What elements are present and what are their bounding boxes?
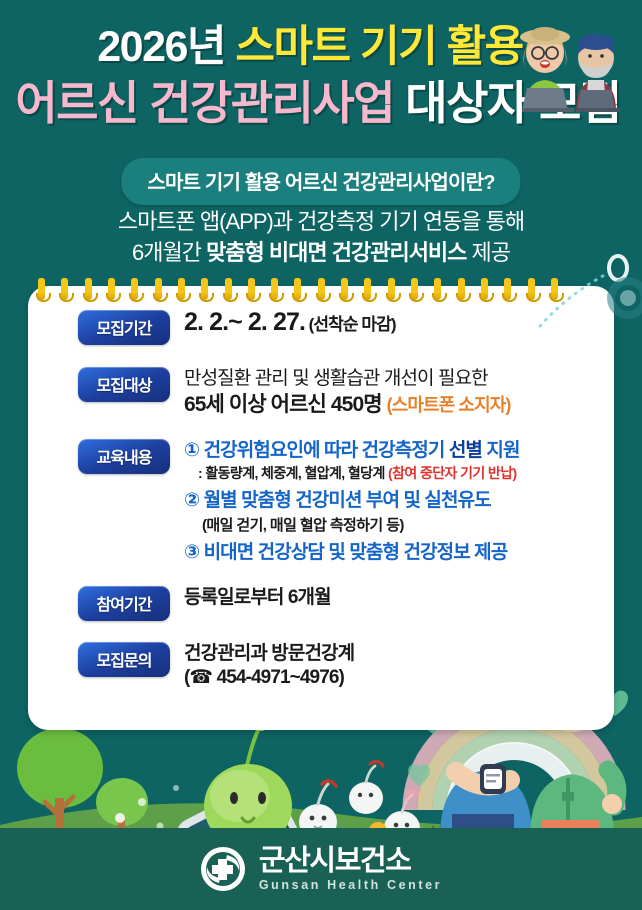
target-line-1: 만성질환 관리 및 생활습관 개선이 필요한 bbox=[184, 367, 614, 390]
title-year: 2026년 bbox=[97, 23, 235, 71]
education-item-2-text: 월별 맞춤형 건강미션 부여 및 실천유도 bbox=[199, 490, 491, 511]
row-participation-duration: 참여기간 등록일로부터 6개월 bbox=[78, 586, 614, 621]
smartwatch-icon bbox=[480, 764, 506, 794]
contact-department: 건강관리과 방문건강계 bbox=[184, 642, 614, 666]
footer-text-group: 군산시보건소 Gunsan Health Center bbox=[259, 847, 442, 892]
footer-bar: 군산시보건소 Gunsan Health Center bbox=[0, 828, 642, 910]
gunsan-health-center-logo-icon bbox=[200, 846, 246, 892]
lead-line2-strong: 맞춤형 비대면 건강관리서비스 bbox=[206, 240, 466, 265]
card-rows: 모집기간 2. 2.~ 2. 27. (선착순 마감) 모집대상 만성질환 관리… bbox=[28, 286, 614, 730]
chip-recruitment-period: 모집기간 bbox=[78, 310, 170, 345]
education-return-warning: (참여 중단자 기기 반납) bbox=[388, 465, 517, 481]
contact-body: 건강관리과 방문건강계 (☎ 454-4971~4976) bbox=[184, 642, 614, 690]
education-item-1-text-pre: 건강위험요인에 따라 건강측정기 bbox=[199, 440, 449, 461]
title-highlight-smart: 스마트 기기 활용 bbox=[235, 23, 522, 71]
footer-name-korean: 군산시보건소 bbox=[259, 847, 442, 876]
education-item-2-marker: ② bbox=[184, 490, 199, 511]
education-item-1-main: ① 건강위험요인에 따라 건강측정기 선별 지원 bbox=[184, 439, 614, 464]
education-item-1-marker: ① bbox=[184, 440, 199, 461]
footer-brand: 군산시보건소 Gunsan Health Center bbox=[200, 846, 442, 892]
contact-phone: (☎ 454-4971~4976) bbox=[184, 666, 614, 690]
elders-with-laptops-illustration bbox=[502, 20, 632, 112]
education-item-1-highlight: 선별 bbox=[449, 440, 482, 461]
education-content-body: ① 건강위험요인에 따라 건강측정기 선별 지원 : 활동량계, 체중계, 혈압… bbox=[184, 439, 614, 566]
row-recruitment-target: 모집대상 만성질환 관리 및 생활습관 개선이 필요한 65세 이상 어르신 4… bbox=[78, 367, 614, 418]
dotted-swoosh-decoration bbox=[532, 252, 642, 332]
education-item-2-note: (매일 걷기, 매일 혈압 측정하기 등) bbox=[184, 514, 614, 535]
participation-duration-body: 등록일로부터 6개월 bbox=[184, 586, 614, 609]
education-device-list: : 활동량계, 체중계, 혈압계, 혈당계 bbox=[198, 465, 388, 481]
chip-recruitment-target: 모집대상 bbox=[78, 367, 170, 402]
row-contact: 모집문의 건강관리과 방문건강계 (☎ 454-4971~4976) bbox=[78, 642, 614, 690]
recruitment-period-note: (선착순 마감) bbox=[309, 315, 396, 334]
education-item-1-sub: : 활동량계, 체중계, 혈압계, 혈당계 (참여 중단자 기기 반납) bbox=[184, 464, 614, 482]
target-condition: (스마트폰 소지자) bbox=[387, 395, 511, 415]
recruitment-target-body: 만성질환 관리 및 생활습관 개선이 필요한 65세 이상 어르신 450명 (… bbox=[184, 367, 614, 418]
poster-root: 2026년 스마트 기기 활용 어르신 건강관리사업 대상자 모집 bbox=[0, 0, 642, 910]
footer-name-english: Gunsan Health Center bbox=[259, 879, 442, 892]
lead-line2-suffix: 제공 bbox=[466, 240, 510, 265]
chip-participation-duration: 참여기간 bbox=[78, 586, 170, 621]
lead-line2-prefix: 6개월간 bbox=[132, 240, 206, 265]
education-item-3-main: ③ 비대면 건강상담 및 맞춤형 건강정보 제공 bbox=[184, 541, 614, 566]
title-highlight-program: 어르신 건강관리사업 bbox=[15, 77, 405, 129]
education-item-3: ③ 비대면 건강상담 및 맞춤형 건강정보 제공 bbox=[184, 541, 614, 566]
target-count: 65세 이상 어르신 450명 bbox=[184, 393, 382, 416]
education-item-1: ① 건강위험요인에 따라 건강측정기 선별 지원 : 활동량계, 체중계, 혈압… bbox=[184, 439, 614, 483]
education-item-1-text-post: 지원 bbox=[482, 440, 520, 461]
lead-line-1: 스마트폰 앱(APP)과 건강측정 기기 연동을 통해 bbox=[0, 208, 642, 236]
participation-duration-value: 등록일로부터 6개월 bbox=[184, 586, 614, 609]
recruitment-dates: 2. 2.~ 2. 27. bbox=[184, 307, 305, 336]
chip-education-content: 교육내용 bbox=[78, 439, 170, 474]
education-item-2: ② 월별 맞춤형 건강미션 부여 및 실천유도 (매일 걷기, 매일 혈압 측정… bbox=[184, 489, 614, 536]
education-item-3-marker: ③ bbox=[184, 542, 199, 563]
subtitle-pill: 스마트 기기 활용 어르신 건강관리사업이란? bbox=[121, 158, 520, 205]
education-item-3-text: 비대면 건강상담 및 맞춤형 건강정보 제공 bbox=[199, 542, 507, 563]
target-line-2: 65세 이상 어르신 450명 (스마트폰 소지자) bbox=[184, 392, 614, 418]
education-item-2-main: ② 월별 맞춤형 건강미션 부여 및 실천유도 bbox=[184, 489, 614, 514]
chip-contact: 모집문의 bbox=[78, 642, 170, 677]
row-education-content: 교육내용 ① 건강위험요인에 따라 건강측정기 선별 지원 : 활동량계, 체중… bbox=[78, 439, 614, 566]
